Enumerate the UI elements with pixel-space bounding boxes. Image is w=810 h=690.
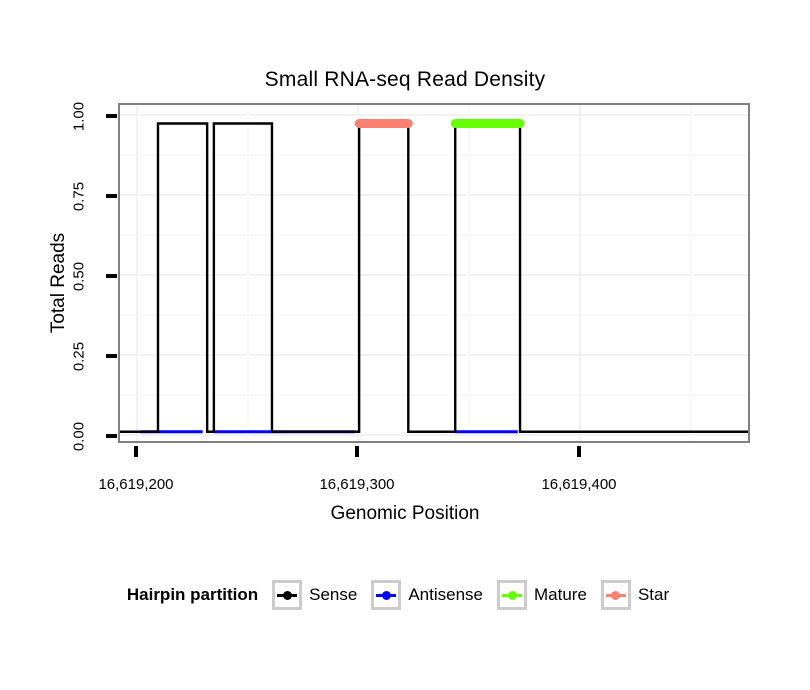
- y-tick-label-1: 0.25: [71, 334, 88, 380]
- y-tick-label-2: 0.50: [71, 254, 88, 300]
- x-tick-label-0: 16,619,200: [81, 476, 191, 493]
- series-sense: [120, 124, 748, 432]
- legend-label-mature: Mature: [534, 585, 587, 605]
- x-tick-mark-1: [355, 446, 359, 457]
- legend-item-sense[interactable]: Sense: [272, 580, 371, 610]
- legend: Hairpin partition Sense Antisense Mature…: [0, 578, 810, 612]
- y-tick-mark-2: [106, 274, 117, 278]
- x-axis-title: Genomic Position: [0, 503, 810, 525]
- y-axis-title: Total Reads: [48, 103, 70, 463]
- chart-title: Small RNA-seq Read Density: [0, 68, 810, 92]
- x-tick-mark-0: [134, 446, 138, 457]
- y-tick-mark-4: [106, 114, 117, 118]
- plot-panel: [118, 103, 750, 443]
- legend-item-antisense[interactable]: Antisense: [371, 580, 497, 610]
- legend-label-antisense: Antisense: [408, 585, 483, 605]
- legend-title: Hairpin partition: [127, 585, 258, 605]
- legend-label-sense: Sense: [309, 585, 357, 605]
- x-tick-label-1: 16,619,300: [302, 476, 412, 493]
- line-dot-icon-star: [601, 580, 631, 610]
- line-dot-icon-antisense: [371, 580, 401, 610]
- x-tick-mark-2: [577, 446, 581, 457]
- legend-item-mature[interactable]: Mature: [497, 580, 601, 610]
- y-tick-label-4: 1.00: [71, 94, 88, 140]
- y-tick-label-3: 0.75: [71, 174, 88, 220]
- legend-item-star[interactable]: Star: [601, 580, 683, 610]
- y-tick-mark-3: [106, 194, 117, 198]
- sense-coverage-step: [120, 124, 748, 432]
- y-tick-mark-0: [106, 434, 117, 438]
- y-tick-label-0: 0.00: [71, 414, 88, 460]
- line-dot-icon-sense: [272, 580, 302, 610]
- chart-figure: Small RNA-seq Read Density Total Reads G…: [0, 0, 810, 690]
- chart-data-layer: [120, 105, 748, 441]
- line-dot-icon-mature: [497, 580, 527, 610]
- legend-label-star: Star: [638, 585, 669, 605]
- y-tick-mark-1: [106, 354, 117, 358]
- x-tick-label-2: 16,619,400: [524, 476, 634, 493]
